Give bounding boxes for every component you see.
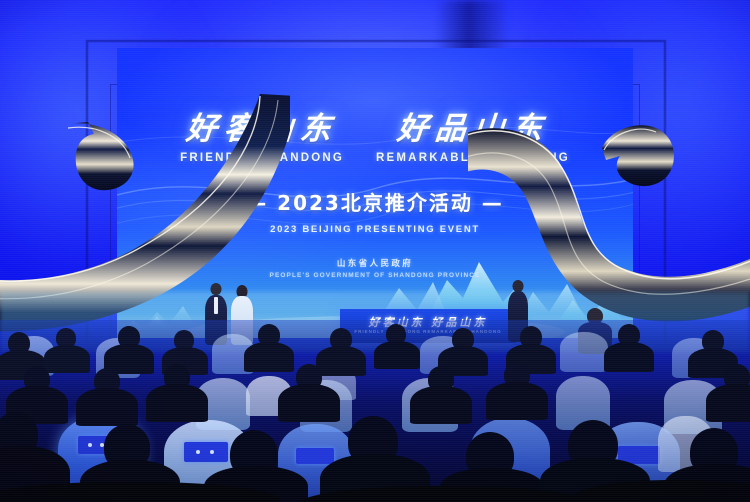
chair-badge-dot (196, 450, 200, 454)
audience-shoulders (278, 384, 340, 422)
audience-shoulders (44, 345, 90, 373)
hero-right: 好品山东 REMARKABLE SHANDONG (376, 114, 570, 164)
audience-area (0, 320, 750, 502)
audience-shoulders (604, 342, 654, 372)
hero-left: 好客山东 FRIENDLY SHANDONG (180, 114, 344, 164)
chair-badge (184, 442, 228, 462)
chair-badge (296, 448, 334, 464)
audience-shoulders (410, 386, 472, 424)
audience-shoulders (76, 388, 138, 426)
host-male-shirt (214, 297, 218, 314)
hero-right-english: REMARKABLE SHANDONG (376, 152, 570, 164)
chair-badge-dot (88, 443, 92, 447)
hero-title-row: 好客山东 FRIENDLY SHANDONG 好品山东 REMARKABLE S… (180, 114, 570, 164)
audience-shoulders (374, 341, 420, 369)
event-subtitle-english: 2023 BEIJING PRESENTING EVENT (270, 224, 480, 235)
organizer-english: PEOPLE'S GOVERNMENT OF SHANDONG PROVINCE (270, 272, 481, 279)
event-stage-photo: 好客山东 FRIENDLY SHANDONG 好品山东 REMARKABLE S… (0, 0, 750, 502)
hero-right-chinese: 好品山东 (396, 114, 551, 145)
host-male-head (211, 283, 222, 295)
hero-left-chinese: 好客山东 (185, 114, 340, 145)
audience-shoulders (146, 384, 208, 422)
event-subtitle-chinese: — 2023北京推介活动 — (246, 187, 504, 216)
chair-cover (560, 332, 608, 372)
hero-left-english: FRIENDLY SHANDONG (180, 152, 344, 164)
organizer-chinese: 山东省人民政府 (337, 257, 413, 269)
audience-shoulders (486, 382, 548, 420)
audience-shoulders (706, 384, 750, 422)
audience-shoulders (316, 346, 366, 376)
chair-badge-dot (210, 450, 214, 454)
audience-shoulders (244, 342, 294, 372)
